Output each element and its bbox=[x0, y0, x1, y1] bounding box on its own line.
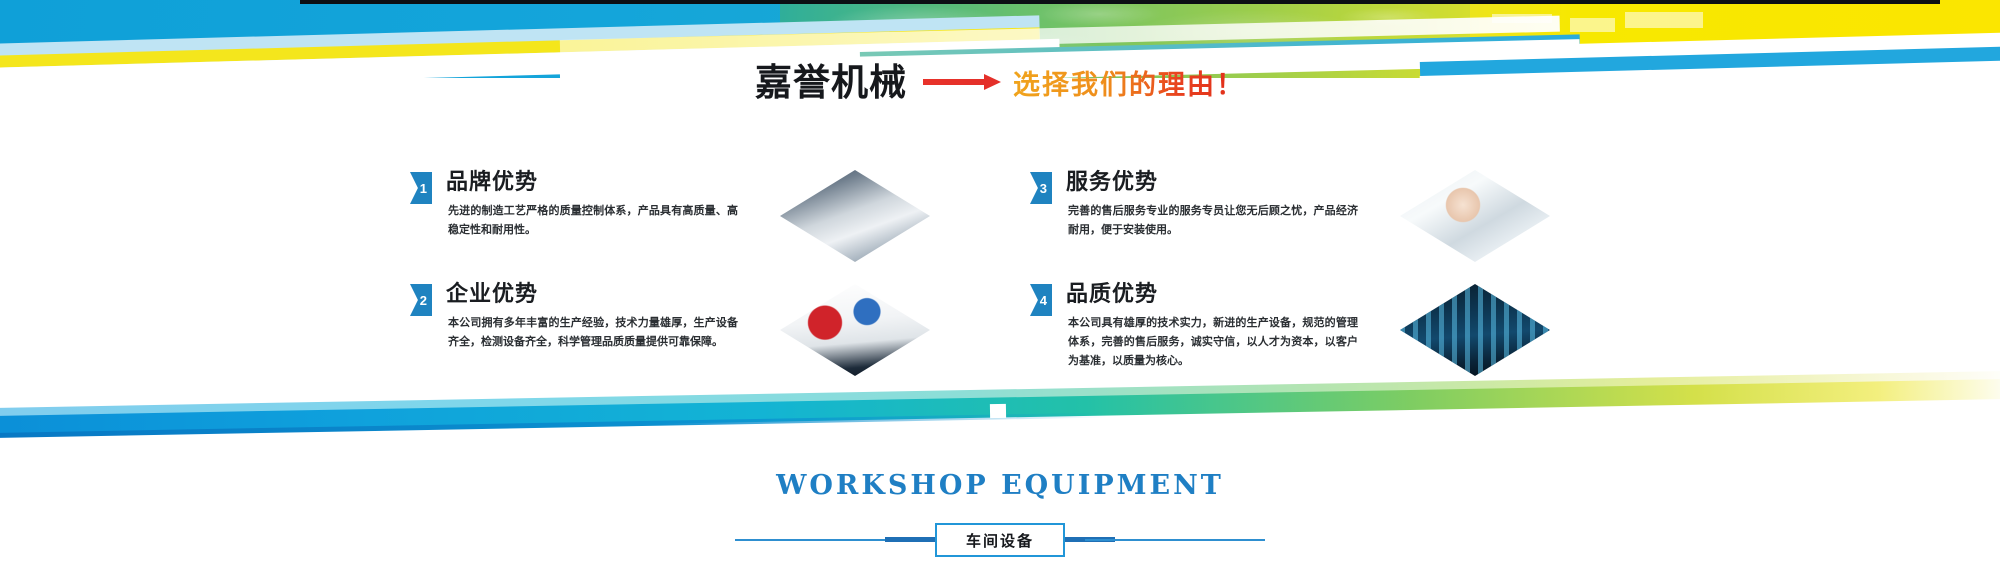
feature-description: 完善的售后服务专业的服务专员让您无后顾之忧，产品经济耐用，便于安装使用。 bbox=[1068, 202, 1358, 240]
feature-number-badge: 3 bbox=[1030, 172, 1052, 204]
footer-english-title: WORKSHOP EQUIPMENT bbox=[0, 470, 2000, 501]
feature-description: 先进的制造工艺严格的质量控制体系，产品具有高质量、高稳定性和耐用性。 bbox=[448, 202, 738, 240]
feature-item-3: 3 服务优势 完善的售后服务专业的服务专员让您无后顾之忧，产品经济耐用，便于安装… bbox=[1030, 168, 1590, 268]
feature-grid: 1 品牌优势 先进的制造工艺严格的质量控制体系，产品具有高质量、高稳定性和耐用性… bbox=[410, 168, 1590, 383]
feature-title: 企业优势 bbox=[446, 280, 538, 309]
feature-number-badge: 4 bbox=[1030, 284, 1052, 316]
feature-item-1: 1 品牌优势 先进的制造工艺严格的质量控制体系，产品具有高质量、高稳定性和耐用性… bbox=[410, 168, 970, 268]
feature-description: 本公司拥有多年丰富的生产经验，技术力量雄厚，生产设备齐全，检测设备齐全，科学管理… bbox=[448, 314, 738, 352]
footer-chinese-title-box: 车间设备 bbox=[935, 523, 1065, 557]
banner-speck bbox=[1570, 18, 1615, 32]
footer-rule: 车间设备 bbox=[0, 517, 2000, 563]
footer-rule-thin-right bbox=[1085, 539, 1265, 541]
banner-speck bbox=[1625, 12, 1703, 28]
section-header: 嘉誉机械 选择我们的理由！ bbox=[0, 58, 2000, 106]
feature-title: 服务优势 bbox=[1066, 168, 1158, 197]
section-tagline: 选择我们的理由！ bbox=[1013, 63, 1245, 102]
feature-item-2: 2 企业优势 本公司拥有多年丰富的生产经验，技术力量雄厚，生产设备齐全，检测设备… bbox=[410, 280, 970, 380]
support-agent-photo-diamond bbox=[1400, 170, 1550, 262]
feature-title: 品牌优势 bbox=[446, 168, 538, 197]
footer-chinese-title: 车间设备 bbox=[966, 530, 1034, 551]
feature-item-4: 4 品质优势 本公司具有雄厚的技术实力，新进的生产设备，规范的管理体系，完善的售… bbox=[1030, 280, 1590, 380]
data-chart-photo-diamond bbox=[1400, 284, 1550, 376]
team-globe-photo-diamond bbox=[780, 284, 930, 376]
right-arrow-icon bbox=[923, 72, 1001, 92]
footer-section: WORKSHOP EQUIPMENT 车间设备 bbox=[0, 470, 2000, 563]
page-root: 嘉誉机械 选择我们的理由！ 1 品牌优势 先进的制造工艺严格的质量控制体系，产品… bbox=[0, 0, 2000, 577]
feature-title: 品质优势 bbox=[1066, 280, 1158, 309]
banner-top-rule bbox=[300, 0, 1940, 4]
feature-number-badge: 2 bbox=[410, 284, 432, 316]
divider-notch bbox=[990, 404, 1006, 418]
feature-number-badge: 1 bbox=[410, 172, 432, 204]
company-name: 嘉誉机械 bbox=[755, 64, 907, 101]
meeting-photo-diamond bbox=[780, 170, 930, 262]
feature-description: 本公司具有雄厚的技术实力，新进的生产设备，规范的管理体系，完善的售后服务，诚实守… bbox=[1068, 314, 1358, 371]
